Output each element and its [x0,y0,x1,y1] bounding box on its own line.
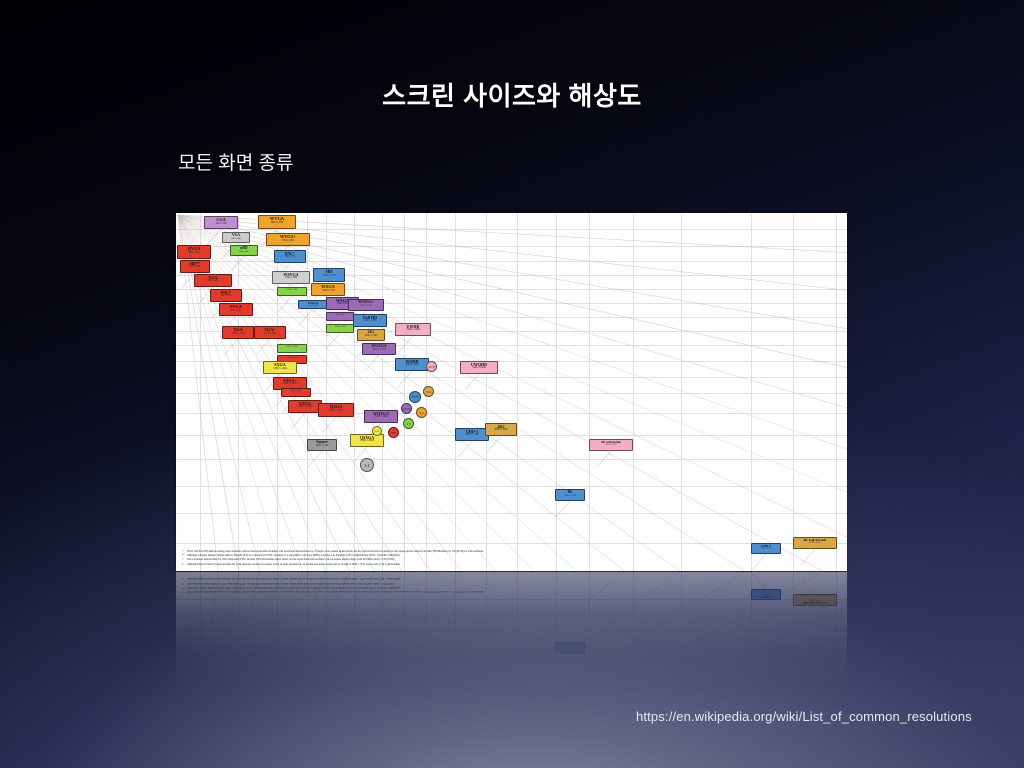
aspect-ratio-ray [178,215,847,571]
aspect-ratio-ray [178,215,566,571]
resolution-node-dimensions: 1280 x 720 [314,274,344,277]
resolution-node-dimensions: 1280 x 1280 [308,445,336,448]
resolution-node: WQXGA2560 x 1600 [364,720,398,722]
resolution-node: 8K7680 x 4320 [555,489,585,501]
resolution-node: 1600 x 1200 [277,344,307,353]
node-leader-line [458,441,472,457]
aspect-ratio-ray [178,572,847,722]
resolution-node-dimensions: 640 x 480 [195,280,231,283]
resolution-node-dimensions: 320 x 200 [205,222,237,225]
node-leader-line [752,554,766,570]
resolution-node: HD**720 x 480 [180,260,210,273]
resolution-node-dimensions: 1920 x 1080 [278,357,306,359]
chart-reflection: CGA320 x 200VGA640 x 480nHD640 x 360WVGA… [176,572,847,722]
footnote-text: NTSC and PAL/SECAM are analog video stan… [187,590,484,593]
aspect-ratio-marker: 8:5 [388,427,399,438]
aspect-ratio-ray [178,572,847,722]
chart-ray-lines [176,572,847,722]
resolution-node-dimensions: 320 x 240 [178,251,210,254]
node-leader-line [291,413,305,429]
resolution-node-dimensions: 4096 x 2160 [486,711,516,714]
aspect-ratio-marker: 16:9 [409,391,421,403]
resolution-node: WXGA1280 x 768 [311,283,345,296]
aspect-ratio-ray [178,572,847,722]
resolution-node-dimensions: 1280 x 1280 [308,696,336,699]
resolution-node-dimensions: 1280 x 1024 [264,367,296,370]
resolution-node: QSXGA2560 x 2048 [350,434,384,447]
resolution-node: HD1280 x 720 [313,268,345,282]
resolution-node: UWQHD3440 x 1440 [460,361,498,374]
resolution-node-dimensions: 7680 x 2160 [590,696,632,698]
resolution-node: UHD-27680 x 4320 [751,589,781,600]
node-leader-line [801,578,815,594]
aspect-ratio-ray [178,572,785,722]
aspect-ratio-ray [178,215,847,571]
aspect-ratio-ray [178,215,847,571]
resolution-node-dimensions: 4096 x 2160 [486,429,516,432]
slide-canvas: 스크린 사이즈와 해상도 모든 화면 종류 CGA320 x 200VGA640… [0,0,1024,768]
resolution-node: WSVGA1024 x 600 [272,271,310,284]
aspect-ratio-marker: 1:1 [372,426,382,436]
node-leader-line [291,714,305,722]
resolution-node: 2K‡2048 x 1080 [357,329,385,341]
chart-surface-reflection: CGA320 x 200VGA640 x 480nHD640 x 360WVGA… [176,572,847,722]
resolution-node-dimensions: 640 x 480 [223,238,249,240]
footnote-text: Although Digital Cinema System specifies… [187,577,401,580]
aspect-ratio-ray [178,572,847,722]
resolution-node-dimensions: 1366 x 768 [299,305,327,307]
resolution-node: WXGA1366 x 768 [298,300,328,309]
chart-ray-lines [176,213,847,571]
aspect-ratio-ray [178,215,847,571]
aspect-ratio-ray [178,215,847,571]
chart-surface: CGA320 x 200VGA640 x 480nHD640 x 360WVGA… [176,213,847,571]
resolution-node-dimensions: 768 x 576 [275,256,305,259]
resolution-node-dimensions: 768 x 576 [211,295,241,298]
resolution-node: 4K‡4096 x 2160 [485,707,517,720]
resolution-node: WSXGA+1680 x 1050 [348,299,384,311]
aspect-ratio-marker: 8:5 [388,705,399,716]
footnote-row: **Although computer industry defines 480… [182,585,542,589]
footnote-row: †The resolutions depicted here for 16:9 … [182,581,542,585]
node-leader-line [398,371,412,387]
resolution-node-dimensions: 2048 x 1080 [358,335,384,338]
resolution-node-dimensions: 854 x 480 [267,239,309,242]
footnote-row: *NTSC and PAL/SECAM are analog video sta… [182,589,542,593]
node-leader-line [365,355,379,371]
node-leader-line [597,451,611,467]
resolution-node: UHD-13840 x 2160 [455,702,489,715]
resolution-chart-image[interactable]: CGA320 x 200VGA640 x 480nHD640 x 360WVGA… [176,213,847,571]
resolution-node: 1600 x 900 [326,312,354,321]
aspect-ratio-marker: 1:1 [360,458,374,472]
node-leader-line [487,436,501,452]
resolution-node-dimensions: 1600 x 1200 [289,406,321,409]
resolution-node-dimensions: 8192 x 4320 [794,542,836,544]
resolution-node: WUXGA1920 x 1200 [362,343,396,355]
resolution-node-dimensions: 2560 x 2048 [351,440,383,443]
resolution-node: WQHD2560 x 1440 [395,358,429,371]
node-leader-line [326,333,340,349]
resolution-node-dimensions: 1920 x 1200 [363,349,395,352]
node-leader-line [308,676,322,692]
resolution-node-dimensions: 2560 x 1080 [396,329,430,332]
resolution-node-dimensions: 1280 x 768 [278,289,306,291]
footnote-row: *NTSC and PAL/SECAM are analog video sta… [182,550,542,554]
resolution-node-name: 8K Full Format [794,601,836,604]
resolution-node-dimensions: 1280 x 768 [312,289,344,292]
resolution-node: UXGA1600 x 1200 [288,400,322,413]
resolution-node-dimensions: 2560 x 2048 [351,700,383,703]
resolution-node-dimensions: 3440 x 1440 [461,367,497,370]
aspect-ratio-ray [178,572,847,722]
footnote-row: **Although computer industry defines 480… [182,554,542,558]
resolution-node: 1600 x 1024 [326,324,354,333]
resolution-node-dimensions: 720 x 480 [181,266,209,269]
node-leader-line [308,451,322,467]
resolution-node: UWHD2560 x 1080 [395,323,431,336]
node-leader-line [487,691,501,707]
node-leader-line [256,339,270,355]
node-leader-line [752,573,766,589]
resolution-node-dimensions: 1600 x 1200 [282,390,310,392]
aspect-ratio-marker: 4:3 [403,714,414,722]
chart-footnotes: *NTSC and PAL/SECAM are analog video sta… [182,550,542,567]
aspect-ratio-marker: 16:10 [401,403,412,414]
aspect-ratio-ray [178,215,847,571]
resolution-node: UHD-13840 x 2160 [455,428,489,441]
resolution-node: 8K Ultrawide7680 x 2160 [589,439,633,451]
aspect-ratio-marker: 21:9 [426,361,437,372]
node-leader-line [299,309,313,325]
footnote-row: ‡Although Digital Cinema System specifie… [182,577,542,581]
footnote-row: †The resolutions depicted here for 16:9 … [182,558,542,562]
footnote-text: The resolutions depicted here for 16:9 w… [187,582,395,585]
resolution-node-dimensions: 7680 x 4320 [752,548,780,550]
resolution-node-dimensions: 3840 x 2160 [456,434,488,437]
aspect-ratio-ray [178,572,847,722]
aspect-ratio-ray [178,572,847,722]
aspect-ratio-ray [178,572,847,722]
aspect-ratio-marker: 3:2 [416,407,427,418]
aspect-ratio-ray [178,572,847,722]
aspect-ratio-ray [178,215,847,571]
aspect-ratio-ray [178,572,847,722]
footnote-text: Although computer industry defines 480i … [187,586,400,589]
resolution-node-dimensions: 1920 x 1080 [354,320,386,323]
resolution-node-dimensions: 7680 x 4320 [752,593,780,595]
resolution-node: XGA+1152 x 864 [254,326,286,339]
resolution-node-dimensions: 1680 x 1050 [349,305,383,307]
resolution-node: UHD-27680 x 4320 [751,543,781,554]
node-leader-line [465,374,479,390]
aspect-ratio-ray [178,215,847,571]
footnote-text: The resolutions depicted here for 16:9 w… [187,558,395,561]
aspect-ratio-ray [178,572,847,722]
resolution-node: WVGA800 x 480 [258,215,296,229]
aspect-ratio-ray [178,572,714,722]
aspect-ratio-ray [178,215,847,571]
resolution-node: Square1280 x 1280 [307,439,337,451]
footnote-text: Although computer industry defines 480i … [187,554,400,557]
resolution-node-dimensions: 7680 x 4320 [556,495,584,497]
node-leader-line [322,417,336,433]
resolution-node-dimensions: 1024 x 600 [273,277,309,280]
aspect-ratio-ray [178,572,847,722]
resolution-node: PAL*768 x 576 [274,250,306,263]
resolution-node: 8K Ultrawide7680 x 2160 [589,692,633,704]
node-leader-line [556,626,570,642]
node-leader-line [597,676,611,692]
resolution-node: SXGA1280 x 1024 [263,361,297,374]
resolution-node-dimensions: 7680 x 2160 [590,444,632,446]
resolution-node-dimensions: 640 x 360 [231,251,257,253]
resolution-node-dimensions: 8192 x 4320 [794,598,836,600]
resolution-node-dimensions: 800 x 480 [259,221,295,224]
resolution-node: VGA640 x 480 [194,274,232,287]
aspect-ratio-marker: 1:1 [372,707,382,717]
resolution-node: QXGA2048 x 1536 [318,403,354,417]
resolution-node-name: UHD-2 [752,595,780,598]
resolution-node: VGA640 x 480 [222,232,250,243]
aspect-ratio-ray [178,572,847,722]
footnote-text: NTSC and PAL/SECAM are analog video stan… [187,550,484,553]
resolution-node-dimensions: 1024 x 768 [223,332,253,335]
node-leader-line [556,501,570,517]
resolution-node: 1600 x 1200 [281,388,311,397]
aspect-ratio-ray [178,215,847,571]
resolution-node: 8K7680 x 4320 [555,642,585,654]
aspect-ratio-ray [178,215,847,571]
node-leader-line [458,686,472,702]
node-leader-line [801,549,815,565]
resolution-node-dimensions: 2560 x 1600 [365,416,397,419]
resolution-node: SVGA800 x 600 [219,303,253,316]
resolution-node-dimensions: 1600 x 1024 [327,326,353,328]
resolution-node-dimensions: 3840 x 2160 [456,706,488,709]
resolution-node-dimensions: 7680 x 4320 [556,646,584,648]
resolution-node: 4K‡4096 x 2160 [485,423,517,436]
resolution-node-dimensions: 1400 x 1050 [274,383,306,386]
resolution-node-dimensions: 2048 x 1536 [319,409,353,412]
aspect-ratio-ray [178,215,785,571]
resolution-node: nHD640 x 360 [230,245,258,256]
resolution-node: XGA1024 x 768 [222,326,254,339]
resolution-node: 1280 x 768 [277,287,307,296]
resolution-node-dimensions: 1152 x 864 [255,332,285,335]
resolution-node-dimensions: 1600 x 900 [327,314,353,316]
resolution-node-name: 8K Ultrawide [590,699,632,702]
aspect-ratio-ray [178,215,847,571]
node-leader-line [224,339,238,355]
aspect-ratio-ray [178,215,847,571]
source-url-link[interactable]: https://en.wikipedia.org/wiki/List_of_co… [636,709,972,724]
aspect-ratio-marker: 1:1 [360,671,374,685]
footnote-text: Although Digital Cinema System specifies… [187,563,401,566]
resolution-node: WVGA+854 x 480 [266,233,310,246]
aspect-ratio-ray [178,215,847,571]
resolution-node: PAL*768 x 576 [210,289,242,302]
chart-footnotes: *NTSC and PAL/SECAM are analog video sta… [182,576,542,593]
aspect-ratio-ray [178,572,847,722]
aspect-ratio-ray [178,215,847,571]
resolution-node-dimensions: 2560 x 1440 [396,364,428,367]
resolution-node: 8K Full Format8192 x 4320 [793,537,837,549]
slide-subtitle: 모든 화면 종류 [178,148,293,175]
aspect-ratio-ray [178,572,847,722]
resolution-node: Full HD1920 x 1080 [353,314,387,327]
aspect-ratio-marker: 4:3 [403,418,414,429]
page-title: 스크린 사이즈와 해상도 [0,76,1024,113]
resolution-node: Square1280 x 1280 [307,692,337,704]
footnote-row: ‡Although Digital Cinema System specifie… [182,563,542,567]
resolution-node: WQXGA2560 x 1600 [364,410,398,423]
resolution-node-dimensions: 800 x 600 [220,309,252,312]
resolution-node: QVGA320 x 240 [177,245,211,259]
resolution-node-dimensions: 1600 x 1200 [278,346,306,348]
node-leader-line [322,710,336,722]
resolution-node: CGA320 x 200 [204,216,238,229]
aspect-ratio-ray [178,215,714,571]
resolution-node: 8K Full Format8192 x 4320 [793,594,837,606]
aspect-ratio-marker: 5:4 [423,386,434,397]
